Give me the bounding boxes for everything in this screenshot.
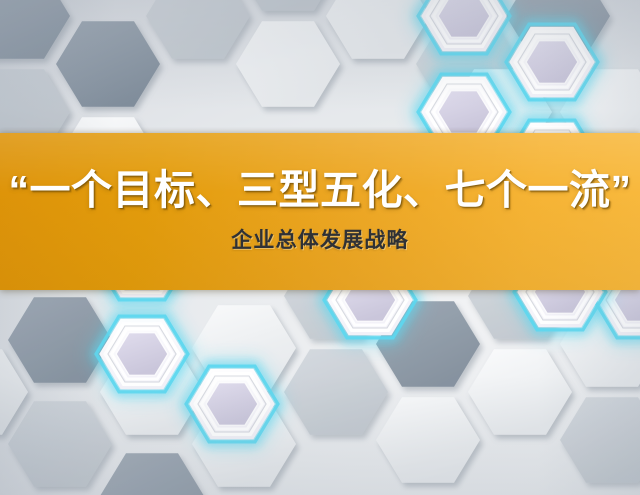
title-slide: “一个目标、三型五化、七个一流” 企业总体发展战略 <box>0 0 640 495</box>
slide-title: “一个目标、三型五化、七个一流” <box>9 169 632 212</box>
title-banner: “一个目标、三型五化、七个一流” 企业总体发展战略 <box>0 133 640 290</box>
banner-text-block: “一个目标、三型五化、七个一流” 企业总体发展战略 <box>0 133 640 290</box>
slide-subtitle: 企业总体发展战略 <box>231 224 409 254</box>
